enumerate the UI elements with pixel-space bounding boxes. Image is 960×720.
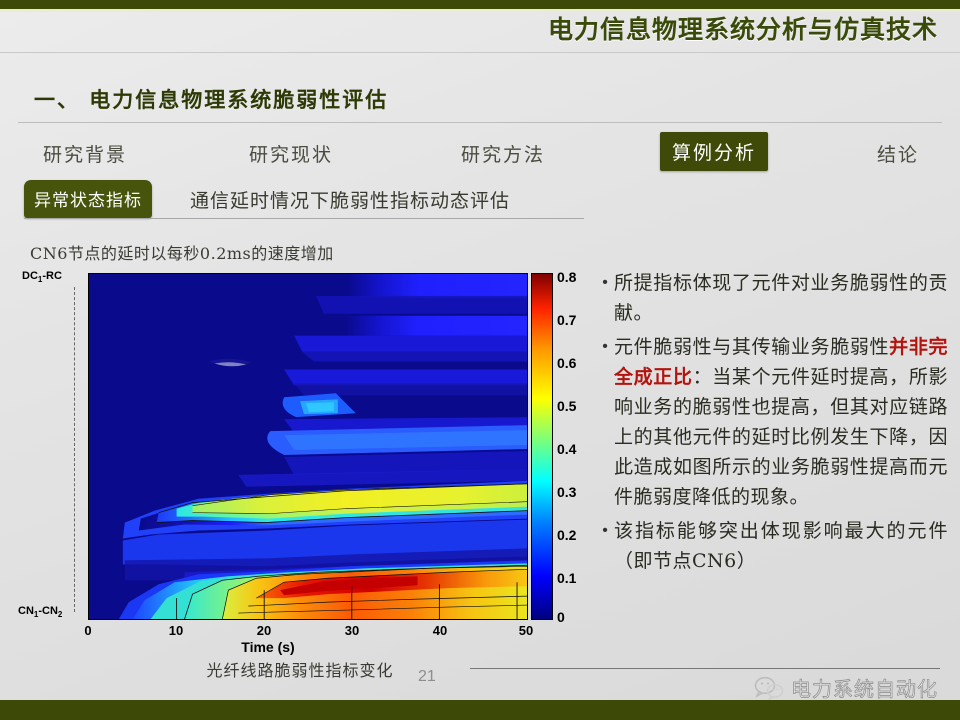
colorbar-tick-0.7: 0.7 — [557, 312, 576, 328]
list-item: • 该指标能够突出体现影响最大的元件（即节点CN6） — [596, 516, 948, 576]
x-tick-40: 40 — [433, 623, 447, 638]
slide-root: 电力信息物理系统分析与仿真技术 一、 电力信息物理系统脆弱性评估 研究背景 研究… — [0, 0, 960, 720]
bullet-text-2: 元件脆弱性与其传输业务脆弱性并非完全成正比：当某个元件延时提高，所影响业务的脆弱… — [614, 332, 948, 512]
bullet-list: • 所提指标体现了元件对业务脆弱性的贡献。 • 元件脆弱性与其传输业务脆弱性并非… — [596, 268, 948, 580]
page-number: 21 — [418, 668, 436, 686]
chart-lead-caption: CN6节点的延时以每秒0.2ms的速度增加 — [30, 240, 334, 264]
colorbar-tick-0.1: 0.1 — [557, 570, 576, 586]
x-tick-0: 0 — [84, 623, 91, 638]
subsection-title: 通信延时情况下脆弱性指标动态评估 — [190, 186, 510, 213]
bullet-1-seg-0: 所提指标体现了元件对业务脆弱性的贡献。 — [614, 272, 948, 324]
nav-tabs: 研究背景 研究现状 研究方法 算例分析 结论 — [0, 131, 960, 171]
figure-caption: 光纤线路脆弱性指标变化 — [206, 657, 393, 681]
status-badge: 异常状态指标 — [24, 180, 152, 218]
colorbar-tick-0.5: 0.5 — [557, 398, 576, 414]
x-tick-10: 10 — [169, 623, 183, 638]
colorbar-gradient — [531, 273, 553, 620]
colorbar: 0.8 0.7 0.6 0.5 0.4 0.3 0.2 0.1 0 — [531, 273, 581, 620]
list-item: • 元件脆弱性与其传输业务脆弱性并非完全成正比：当某个元件延时提高，所影响业务的… — [596, 332, 948, 512]
tab-conclusion[interactable]: 结论 — [868, 135, 928, 172]
y-axis-label-bottom: CN1-CN2 — [18, 605, 62, 619]
section-heading: 一、 电力信息物理系统脆弱性评估 — [34, 84, 388, 114]
y-axis-label-top: DC1-RC — [22, 270, 62, 284]
x-tick-50: 50 — [519, 623, 533, 638]
colorbar-tick-0.2: 0.2 — [557, 527, 576, 543]
colorbar-tick-0: 0 — [557, 609, 565, 625]
bullet-dot-icon: • — [596, 516, 614, 576]
heatmap-svg — [89, 274, 527, 619]
x-tick-20: 20 — [257, 623, 271, 638]
footer-divider — [470, 668, 940, 669]
colorbar-tick-0.8: 0.8 — [557, 269, 576, 285]
wechat-icon — [754, 676, 784, 700]
colorbar-tick-0.6: 0.6 — [557, 355, 576, 371]
top-accent-bar — [0, 0, 960, 9]
heatmap-plot — [88, 273, 528, 620]
bullet-text-1: 所提指标体现了元件对业务脆弱性的贡献。 — [614, 268, 948, 328]
tab-research-background[interactable]: 研究背景 — [34, 135, 136, 172]
tab-case-analysis[interactable]: 算例分析 — [660, 132, 768, 171]
x-tick-30: 30 — [345, 623, 359, 638]
x-axis-title: Time (s) — [241, 639, 294, 655]
wechat-brand: 电力系统自动化 — [754, 673, 938, 702]
section-divider — [18, 122, 942, 123]
colorbar-tick-0.4: 0.4 — [557, 441, 576, 457]
wechat-label: 电力系统自动化 — [791, 673, 938, 702]
list-item: • 所提指标体现了元件对业务脆弱性的贡献。 — [596, 268, 948, 328]
header-divider — [0, 52, 960, 53]
bullet-dot-icon: • — [596, 268, 614, 328]
subsection-divider — [24, 218, 584, 219]
bullet-text-3: 该指标能够突出体现影响最大的元件（即节点CN6） — [614, 516, 948, 576]
colorbar-tick-0.3: 0.3 — [557, 484, 576, 500]
figure-container: DC1-RC CN1-CN2 — [0, 265, 580, 665]
tab-research-status[interactable]: 研究现状 — [240, 135, 342, 172]
bullet-3-seg-0: 该指标能够突出体现影响最大的元件（即节点CN6） — [614, 520, 948, 572]
bullet-dot-icon: • — [596, 332, 614, 512]
bullet-2-seg-0: 元件脆弱性与其传输业务脆弱性 — [614, 336, 889, 358]
bottom-accent-bar — [0, 700, 960, 720]
y-axis-dashed-line — [74, 287, 75, 612]
tab-research-method[interactable]: 研究方法 — [452, 135, 554, 172]
page-title: 电力信息物理系统分析与仿真技术 — [548, 10, 938, 46]
